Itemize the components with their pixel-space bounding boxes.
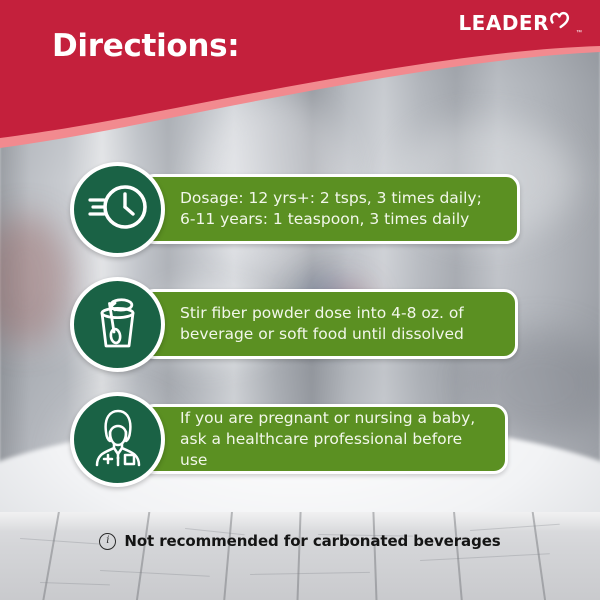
plank-seam	[133, 512, 152, 600]
page-title: Directions:	[52, 28, 239, 64]
clock-with-motion-lines-icon	[87, 181, 149, 238]
plank-seam	[39, 512, 62, 600]
healthcare-professional-icon	[88, 407, 148, 472]
plank-seam	[372, 512, 378, 600]
instruction-text: Dosage: 12 yrs+: 2 tsps, 3 times daily; …	[143, 188, 494, 230]
header-banner: Directions: LEADER ™	[0, 0, 600, 160]
footer-note-text: Not recommended for carbonated beverages	[124, 532, 500, 550]
instruction-pill: Dosage: 12 yrs+: 2 tsps, 3 times daily; …	[140, 174, 520, 244]
footer-note: i Not recommended for carbonated beverag…	[0, 532, 600, 550]
wood-grain	[40, 582, 110, 585]
logo-wordmark: LEADER	[458, 12, 549, 34]
wood-grain	[100, 570, 210, 577]
wood-floor	[0, 512, 600, 600]
instruction-icon-badge	[70, 162, 165, 257]
trademark-symbol: ™	[576, 29, 582, 37]
instruction-icon-badge	[70, 277, 165, 372]
plank-seam	[452, 512, 464, 600]
info-circle-icon: i	[99, 533, 116, 550]
instruction-icon-badge	[70, 392, 165, 487]
instruction-row: Dosage: 12 yrs+: 2 tsps, 3 times daily; …	[0, 162, 600, 257]
plank-seam	[222, 512, 234, 600]
wood-grain	[470, 524, 560, 531]
instruction-row: Stir fiber powder dose into 4-8 oz. of b…	[0, 277, 600, 372]
heart-icon	[548, 8, 574, 39]
instruction-pill: Stir fiber powder dose into 4-8 oz. of b…	[140, 289, 518, 359]
plank-seam	[296, 512, 302, 600]
leader-logo: LEADER ™	[458, 12, 582, 39]
stirring-glass-with-spoon-icon	[89, 292, 147, 357]
instruction-text: If you are pregnant or nursing a baby, a…	[143, 408, 505, 471]
instruction-list: Dosage: 12 yrs+: 2 tsps, 3 times daily; …	[0, 162, 600, 507]
wood-grain	[420, 553, 550, 561]
wood-grain	[250, 572, 370, 575]
directions-poster: Directions: LEADER ™ Dosage: 12 yrs+: 2 …	[0, 0, 600, 600]
instruction-text: Stir fiber powder dose into 4-8 oz. of b…	[143, 303, 476, 345]
instruction-pill: If you are pregnant or nursing a baby, a…	[140, 404, 508, 474]
instruction-row: If you are pregnant or nursing a baby, a…	[0, 392, 600, 487]
